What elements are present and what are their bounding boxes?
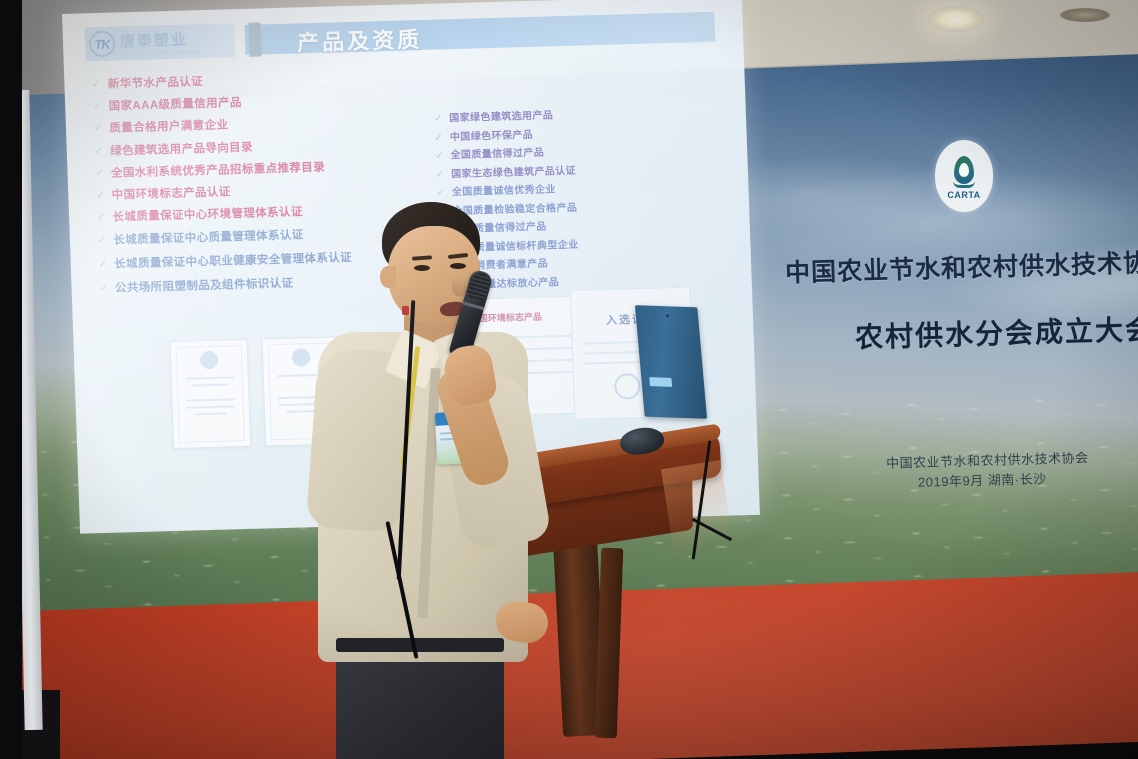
check-icon: ✓	[435, 150, 444, 161]
bullet-text: 国家AAA级质量信用产品	[108, 97, 242, 114]
bullet-text: 国家绿色建筑选用产品	[449, 110, 553, 124]
list-item: ✓质量合格用户满意企业	[94, 114, 424, 136]
laptop-icon[interactable]	[635, 305, 707, 419]
bullet-text: 绿色建筑选用产品导向目录	[110, 141, 253, 158]
check-icon: ✓	[94, 123, 103, 134]
speaker-eye	[414, 265, 430, 271]
banner-subtitle-date-location: 2019年9月 湖南·长沙	[918, 468, 1047, 491]
slide-logo-company-cn: 唐泰塑业	[120, 31, 189, 50]
screenshot-root: CARTA 中国农业节水和农村供水技术协会 农村供水分会成立大会 中国农业节水和…	[0, 0, 1138, 759]
mic-ring	[462, 301, 484, 310]
check-icon: ✓	[92, 79, 101, 90]
speaker-belt	[336, 638, 504, 652]
slide-logo-company-en: TANGTAI PLASTIC INDUSTRY	[120, 49, 200, 56]
check-icon: ✓	[434, 113, 443, 124]
check-icon: ✓	[436, 169, 445, 180]
list-item: ✓全国质量信得过产品	[435, 144, 685, 162]
list-item: ✓国家AAA级质量信用产品	[93, 92, 423, 114]
slide-company-logo: TK 唐泰塑业 TANGTAI PLASTIC INDUSTRY	[84, 23, 235, 61]
list-item: ✓国家绿色建筑选用产品	[434, 107, 684, 125]
bullet-text: 全国水利系统优秀产品招标重点推荐目录	[111, 162, 326, 181]
laptop-brand-label	[649, 377, 672, 387]
check-icon: ✓	[99, 283, 108, 294]
seal-icon	[614, 373, 641, 400]
list-item: ✓全国水利系统优秀产品招标重点推荐目录	[95, 159, 425, 181]
ceiling-beam	[1060, 8, 1110, 22]
laptop-camera-icon	[666, 314, 669, 317]
bullet-text: 质量合格用户满意企业	[109, 120, 228, 137]
mic-indicator-icon	[402, 306, 409, 315]
tk-logo-icon: TK	[89, 31, 116, 58]
bullet-text: 中国绿色环保产品	[450, 129, 534, 143]
water-drop-icon	[954, 156, 974, 184]
check-icon: ✓	[434, 132, 443, 143]
carta-emblem-icon: CARTA	[935, 140, 993, 212]
check-icon: ✓	[98, 234, 107, 245]
seal-icon	[200, 351, 219, 369]
left-wall-dark	[0, 0, 22, 759]
bullet-text: 长城质量保证中心质量管理体系认证	[113, 229, 304, 248]
check-icon: ✓	[96, 190, 105, 201]
check-icon: ✓	[93, 101, 102, 112]
check-icon: ✓	[95, 168, 104, 179]
speaker-eye	[450, 263, 466, 269]
bullet-text: 长城质量保证中心环境管理体系认证	[112, 207, 303, 226]
list-item: ✓新华节水产品认证	[92, 70, 422, 92]
bullet-text: 中国环境标志产品认证	[112, 186, 231, 203]
speaker-person	[300, 190, 560, 759]
check-icon: ✓	[97, 212, 106, 223]
certificate-thumbnail	[169, 339, 251, 449]
bullet-text: 全国质量信得过产品	[450, 148, 544, 162]
speaker-ear	[380, 266, 396, 288]
check-icon: ✓	[95, 146, 104, 157]
list-item: ✓中国绿色环保产品	[434, 125, 684, 143]
speaker-nose	[452, 276, 466, 296]
bullet-text: 国家生态绿色建筑产品认证	[451, 165, 576, 180]
banner-title-line2: 农村供水分会成立大会	[855, 308, 1138, 356]
check-icon: ✓	[99, 259, 108, 270]
bullet-text: 新华节水产品认证	[108, 76, 204, 92]
emblem-label: CARTA	[947, 190, 980, 200]
slide-header-accent	[248, 22, 261, 56]
list-item: ✓国家生态绿色建筑产品认证	[436, 162, 686, 180]
list-item: ✓绿色建筑选用产品导向目录	[95, 137, 425, 159]
bullet-text: 公共场所阻塑制品及组件标识认证	[115, 278, 294, 296]
ceiling-downlight-icon	[928, 6, 984, 32]
slide-header-title: 产品及资质	[297, 22, 423, 57]
podium-stem-secondary	[595, 548, 624, 739]
